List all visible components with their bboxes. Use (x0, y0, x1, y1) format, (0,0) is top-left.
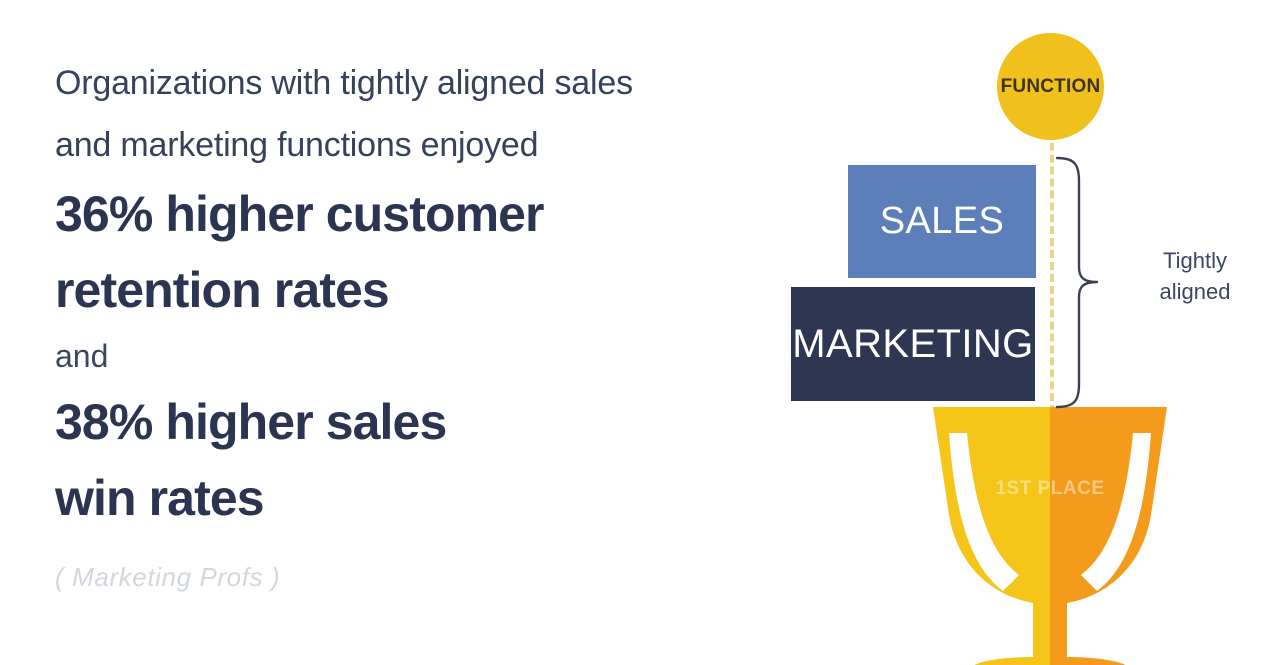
brace-label: Tightly aligned (1130, 245, 1260, 307)
stat-two-line-2: win rates (55, 460, 845, 536)
curly-brace-icon (1055, 155, 1101, 410)
source-attribution: ( Marketing Profs ) (55, 562, 845, 593)
connector-and: and (55, 328, 845, 384)
lead-line-2: and marketing functions enjoyed (55, 114, 845, 176)
brace-label-line-2: aligned (1130, 276, 1260, 307)
stat-two-line-1: 38% higher sales (55, 384, 845, 460)
lead-line-1: Organizations with tightly aligned sales (55, 52, 845, 114)
infographic-slide: Organizations with tightly aligned sales… (0, 0, 1280, 665)
trophy-icon (915, 405, 1185, 665)
stat-one-line-1: 36% higher customer (55, 176, 845, 252)
alignment-dashed-line (1050, 95, 1054, 425)
stat-one-line-2: retention rates (55, 252, 845, 328)
statement-block: Organizations with tightly aligned sales… (55, 52, 845, 593)
brace-label-line-1: Tightly (1130, 245, 1260, 276)
function-circle: FUNCTION (997, 33, 1104, 140)
marketing-box-label: MARKETING (792, 322, 1033, 367)
function-circle-label: FUNCTION (1001, 76, 1101, 98)
sales-box: SALES (848, 165, 1036, 278)
sales-box-label: SALES (880, 200, 1005, 243)
marketing-box: MARKETING (791, 287, 1035, 401)
alignment-diagram: FUNCTION SALES MARKETING Tightly aligned (760, 0, 1280, 665)
